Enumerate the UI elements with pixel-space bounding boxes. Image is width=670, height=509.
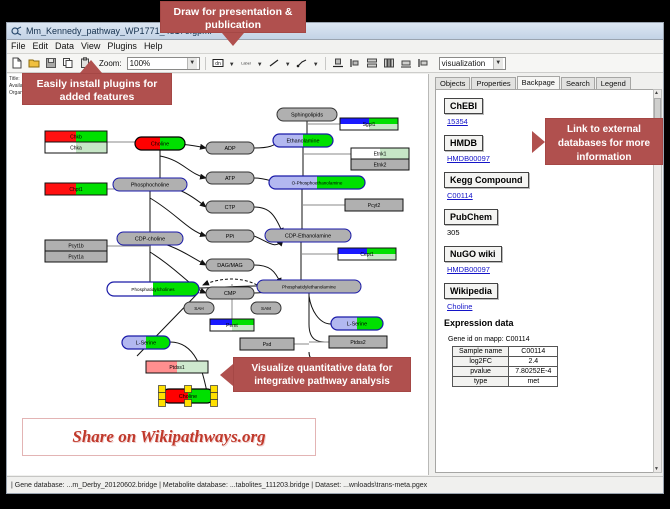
menu-item-plugins[interactable]: Plugins (107, 42, 137, 51)
pathway-node-sphingolipids[interactable]: Sphingolipids (277, 108, 337, 121)
menu-item-file[interactable]: File (11, 42, 26, 51)
expr-key-0: Sample name (453, 347, 509, 357)
share-banner: Share on Wikipathways.org (22, 418, 316, 456)
db-link-nugowiki[interactable]: HMDB00097 (447, 265, 647, 274)
pathway-gene-ptdss2[interactable]: Ptdss2 (329, 336, 387, 348)
pathway-node-choline-selected[interactable]: Choline (159, 386, 218, 407)
menu-item-data[interactable]: Data (55, 42, 74, 51)
pathway-node-sam[interactable]: SAM (251, 302, 281, 314)
visualization-value: visualization (442, 59, 486, 68)
table-row: Sample name C00114 (453, 347, 558, 357)
expr-key-2: pvalue (453, 367, 509, 377)
pathway-gene-label: Pcyt2 (368, 203, 381, 209)
pathway-node-cdp-choline[interactable]: CDP-choline (117, 232, 183, 245)
new-file-icon[interactable] (10, 56, 24, 70)
pathway-node-ethanolamine[interactable]: Ethanolamine (273, 134, 333, 147)
right-panel-tabs: Objects Properties Backpage Search Legen… (435, 76, 661, 89)
pathway-node-ctp[interactable]: CTP (206, 201, 254, 213)
pathway-node-atp[interactable]: ATP (206, 172, 254, 184)
open-folder-icon[interactable] (27, 56, 41, 70)
gene-id-line: Gene id on mapp: C00114 (448, 336, 647, 343)
svg-text:dn: dn (215, 61, 221, 67)
pathway-gene-label: Pcyt1a (68, 255, 84, 261)
tab-properties[interactable]: Properties (471, 77, 515, 89)
pathway-gene-chpt1[interactable]: Chpt1 (45, 183, 107, 195)
chevron-down-icon: ▼ (187, 58, 197, 69)
pathway-gene-label: Ptdss1 (169, 365, 185, 371)
app-icon (11, 26, 22, 37)
menu-item-view[interactable]: View (81, 42, 100, 51)
pathway-gene-psd[interactable]: Psd (240, 338, 294, 350)
pathway-gene-label: Chkb (70, 135, 82, 141)
expr-key-3: type (453, 377, 509, 387)
pathway-node-phosphocholine[interactable]: Phosphocholine (113, 178, 187, 191)
pathway-node-label: SAH (194, 306, 203, 311)
scroll-up-icon[interactable]: ▲ (654, 90, 659, 96)
pathway-node-label: L-Serine (347, 322, 367, 328)
pathway-node-label: Phosphatidylethanolamine (282, 285, 336, 290)
share-banner-text: Share on Wikipathways.org (72, 427, 265, 447)
size-icon[interactable] (399, 56, 413, 70)
menu-item-help[interactable]: Help (144, 42, 163, 51)
stack-icon[interactable] (365, 56, 379, 70)
pathway-canvas[interactable]: Title: Availa Organi SphingolipidsCh (7, 74, 429, 475)
zoom-label: Zoom: (99, 59, 122, 68)
pathway-node-cmp[interactable]: CMP (206, 287, 254, 299)
svg-text:Label: Label (241, 61, 251, 66)
pathway-node-label: CMP (224, 291, 236, 297)
zoom-value: 100% (130, 59, 150, 68)
pathway-node-label: Sphingolipids (291, 113, 323, 119)
screenshot-root: Mm_Kennedy_pathway_WP1771_45176.gpml Fil… (0, 0, 670, 509)
pathway-node-label: CTP (225, 205, 236, 211)
pathway-gene-pcyt1a[interactable]: Pcyt1a (45, 251, 107, 262)
db-label-chebi: ChEBI (444, 98, 483, 114)
pathway-node-label: CDP-choline (135, 237, 165, 243)
pathway-node-sah[interactable]: SAH (184, 302, 214, 314)
pathway-node-label: DAG/MAG (217, 263, 242, 269)
pathway-node-label: Phosphatidylcholines (131, 287, 175, 292)
align-left-icon[interactable] (348, 56, 362, 70)
callout-draw: Draw for presentation & publication (160, 1, 306, 33)
pathway-node-l-serine-left[interactable]: L-Serine (122, 336, 170, 349)
pathway-gene-chkb[interactable]: Chkb (45, 131, 107, 142)
pathway-gene-label: Etnk1 (374, 152, 387, 158)
expr-val-1: 2.4 (509, 357, 558, 367)
expression-table: Sample name C00114 log2FC 2.4 pvalue 7.8… (452, 346, 558, 387)
expression-data-title: Expression data (444, 318, 647, 328)
tool-bar: Zoom: 100% ▼ dn ▼ Label ▼ ▼ ▼ (7, 54, 663, 73)
pathway-gene-ptdss1[interactable]: Ptdss1 (146, 361, 208, 373)
db-link-wikipedia[interactable]: Choline (447, 302, 647, 311)
pathway-gene-etnk2[interactable]: Etnk2 (351, 159, 409, 170)
pathway-node-cdp-ethanolamine[interactable]: CDP-Ethanolamine (265, 229, 351, 242)
chevron-down-icon-2: ▼ (493, 58, 503, 69)
callout-plugins-arrow (80, 60, 102, 73)
tab-legend[interactable]: Legend (596, 77, 631, 89)
tab-objects[interactable]: Objects (435, 77, 470, 89)
pathway-gene-label: Sgpl1 (363, 122, 376, 128)
db-link-kegg[interactable]: C00114 (447, 191, 647, 200)
tab-backpage[interactable]: Backpage (517, 76, 560, 89)
pathway-gene-label: Etnk2 (374, 163, 387, 169)
pathway-node-o-phosphoethanolamine[interactable]: O-Phosphoethanolamine (269, 176, 365, 189)
copy-icon[interactable] (61, 56, 75, 70)
pathway-graph[interactable]: SphingolipidsCholineEthanolaminePhosphoc… (7, 74, 428, 475)
pathway-node-ppi[interactable]: PPi (206, 230, 254, 242)
pathway-node-label: Ethanolamine (287, 139, 320, 145)
pathway-gene-cept1[interactable]: Cept1 (338, 248, 396, 260)
pathway-gene-sgpl1[interactable]: Sgpl1 (340, 118, 398, 130)
pathway-node-label: Phosphocholine (131, 183, 169, 189)
expr-key-1: log2FC (453, 357, 509, 367)
line-dropdown-icon[interactable]: ▼ (284, 57, 292, 70)
save-icon[interactable] (44, 56, 58, 70)
callout-links: Link to external databases for more info… (545, 118, 663, 165)
pathway-gene-etnk1[interactable]: Etnk1 (351, 148, 409, 159)
expr-val-3: met (509, 377, 558, 387)
menu-item-edit[interactable]: Edit (33, 42, 49, 51)
pathway-node-phosphatidylcholines[interactable]: Phosphatidylcholines (107, 282, 199, 296)
status-text: | Gene database: ...m_Derby_20120602.bri… (11, 482, 427, 489)
pathway-gene-chka[interactable]: Chka (45, 142, 107, 153)
distribute-icon[interactable] (382, 56, 396, 70)
title-bar: Mm_Kennedy_pathway_WP1771_45176.gpml (7, 23, 663, 40)
pathway-node-label: CDP-Ethanolamine (285, 234, 331, 240)
pathway-node-label: O-Phosphoethanolamine (292, 181, 343, 186)
width-icon[interactable] (416, 56, 430, 70)
pathway-node-label: PPi (226, 234, 234, 240)
pathway-node-label: SAM (261, 306, 271, 311)
table-row: log2FC 2.4 (453, 357, 558, 367)
pathway-node-label: Choline (151, 142, 169, 148)
pathway-node-dagmag[interactable]: DAG/MAG (206, 259, 254, 271)
expr-val-2: 7.80252E-4 (509, 367, 558, 377)
pathway-node-choline-top[interactable]: Choline (135, 137, 185, 150)
interaction-icon[interactable] (295, 56, 309, 70)
toolbar-divider-2 (325, 57, 326, 70)
datanode-icon[interactable]: dn (211, 56, 225, 70)
status-bar: | Gene database: ...m_Derby_20120602.bri… (7, 476, 663, 493)
pathway-node-l-serine-right[interactable]: L-Serine (331, 317, 383, 330)
db-label-hmdb: HMDB (444, 135, 483, 151)
align-top-icon[interactable] (331, 56, 345, 70)
line-icon[interactable] (267, 56, 281, 70)
pathway-gene-label: Pcyt1b (68, 244, 84, 250)
tab-search[interactable]: Search (561, 77, 595, 89)
pathway-node-adp[interactable]: ADP (206, 142, 254, 154)
pathway-gene-label: Ptdss2 (350, 340, 366, 346)
pathway-node-label: ADP (224, 146, 235, 152)
visualization-combobox[interactable]: visualization ▼ (439, 57, 506, 70)
callout-links-arrow (532, 131, 545, 153)
pathway-gene-label: Cept1 (360, 252, 374, 258)
interaction-dropdown-icon[interactable]: ▼ (312, 57, 320, 70)
pathway-node-label: ATP (225, 176, 235, 182)
menu-bar: File Edit Data View Plugins Help (7, 40, 663, 54)
db-label-nugowiki: NuGO wiki (444, 246, 502, 262)
pathway-node-phosphatidylethanolamine[interactable]: Phosphatidylethanolamine (257, 280, 361, 293)
db-label-kegg: Kegg Compound (444, 172, 529, 188)
table-row: pvalue 7.80252E-4 (453, 367, 558, 377)
pathway-gene-label: Pemt (226, 323, 238, 329)
pathway-gene-pcyt1b[interactable]: Pcyt1b (45, 240, 107, 251)
pathway-gene-label: Psd (263, 342, 272, 348)
pathway-gene-pcyt2[interactable]: Pcyt2 (345, 199, 403, 211)
db-value-pubchem: 305 (447, 228, 647, 237)
pathway-node-label: L-Serine (136, 341, 156, 347)
callout-visualize-arrow (220, 364, 233, 386)
pathway-gene-label: Chka (70, 146, 82, 152)
label-icon[interactable]: Label (239, 56, 253, 70)
pathway-gene-pemt[interactable]: Pemt (210, 319, 254, 331)
expr-val-0: C00114 (509, 347, 558, 357)
table-row: type met (453, 377, 558, 387)
db-label-pubchem: PubChem (444, 209, 498, 225)
toolbar-divider (205, 57, 206, 70)
zoom-combobox[interactable]: 100% ▼ (127, 57, 200, 70)
callout-plugins: Easily install plugins for added feature… (22, 73, 172, 105)
scroll-down-icon[interactable]: ▼ (654, 466, 659, 472)
pathway-gene-label: Chpt1 (69, 187, 83, 193)
pathway-node-label: Choline (179, 394, 197, 400)
db-label-wikipedia: Wikipedia (444, 283, 498, 299)
callout-draw-arrow (222, 33, 244, 46)
datanode-dropdown-icon[interactable]: ▼ (228, 57, 236, 70)
callout-visualize: Visualize quantitative data for integrat… (233, 357, 411, 392)
label-dropdown-icon[interactable]: ▼ (256, 57, 264, 70)
